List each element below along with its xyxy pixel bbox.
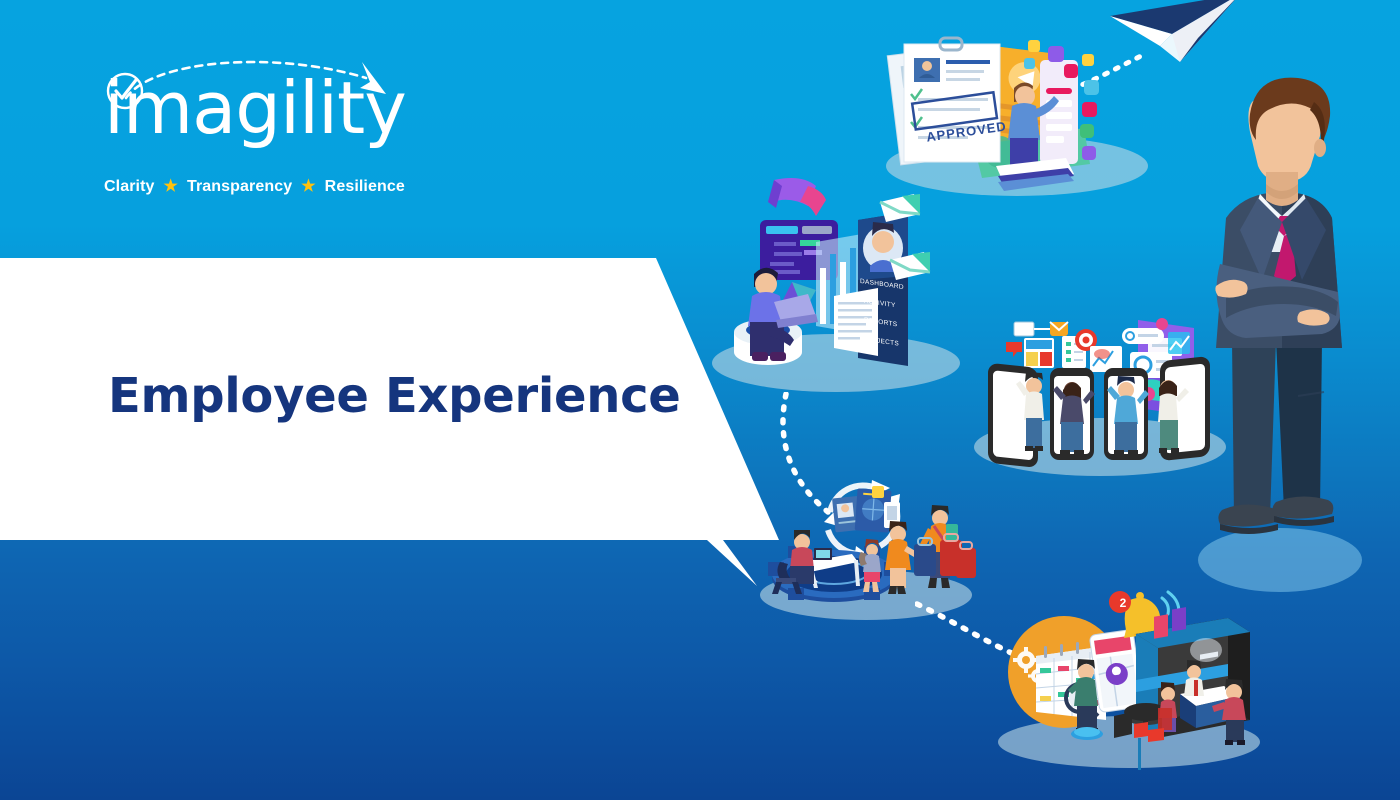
tagline-item-clarity: Clarity xyxy=(104,178,155,196)
page-title: Employee Experience xyxy=(108,368,681,424)
tagline-item-transparency: Transparency xyxy=(187,178,292,196)
businessman-figure xyxy=(1180,40,1380,600)
dashboard-analytics-illustration: DASHBOARD ACTIVITY REPORTS PROJECTS xyxy=(712,176,962,396)
brand-logo-block[interactable]: imagility Clarity ★ Transparency ★ Resil… xyxy=(104,62,504,196)
brand-tagline: Clarity ★ Transparency ★ Resilience xyxy=(104,178,504,196)
notification-badge-count: 2 xyxy=(1112,596,1134,610)
relocation-workflow-illustration xyxy=(758,466,1008,624)
tagline-item-resilience: Resilience xyxy=(325,178,405,196)
star-icon: ★ xyxy=(164,179,178,195)
logo-mark[interactable]: imagility xyxy=(104,62,394,162)
slide-canvas: APPROVED xyxy=(0,0,1400,800)
brand-wordmark: imagility xyxy=(104,72,406,144)
workplace-scheduling-illustration: 2 xyxy=(988,588,1270,770)
star-icon: ★ xyxy=(301,179,315,195)
